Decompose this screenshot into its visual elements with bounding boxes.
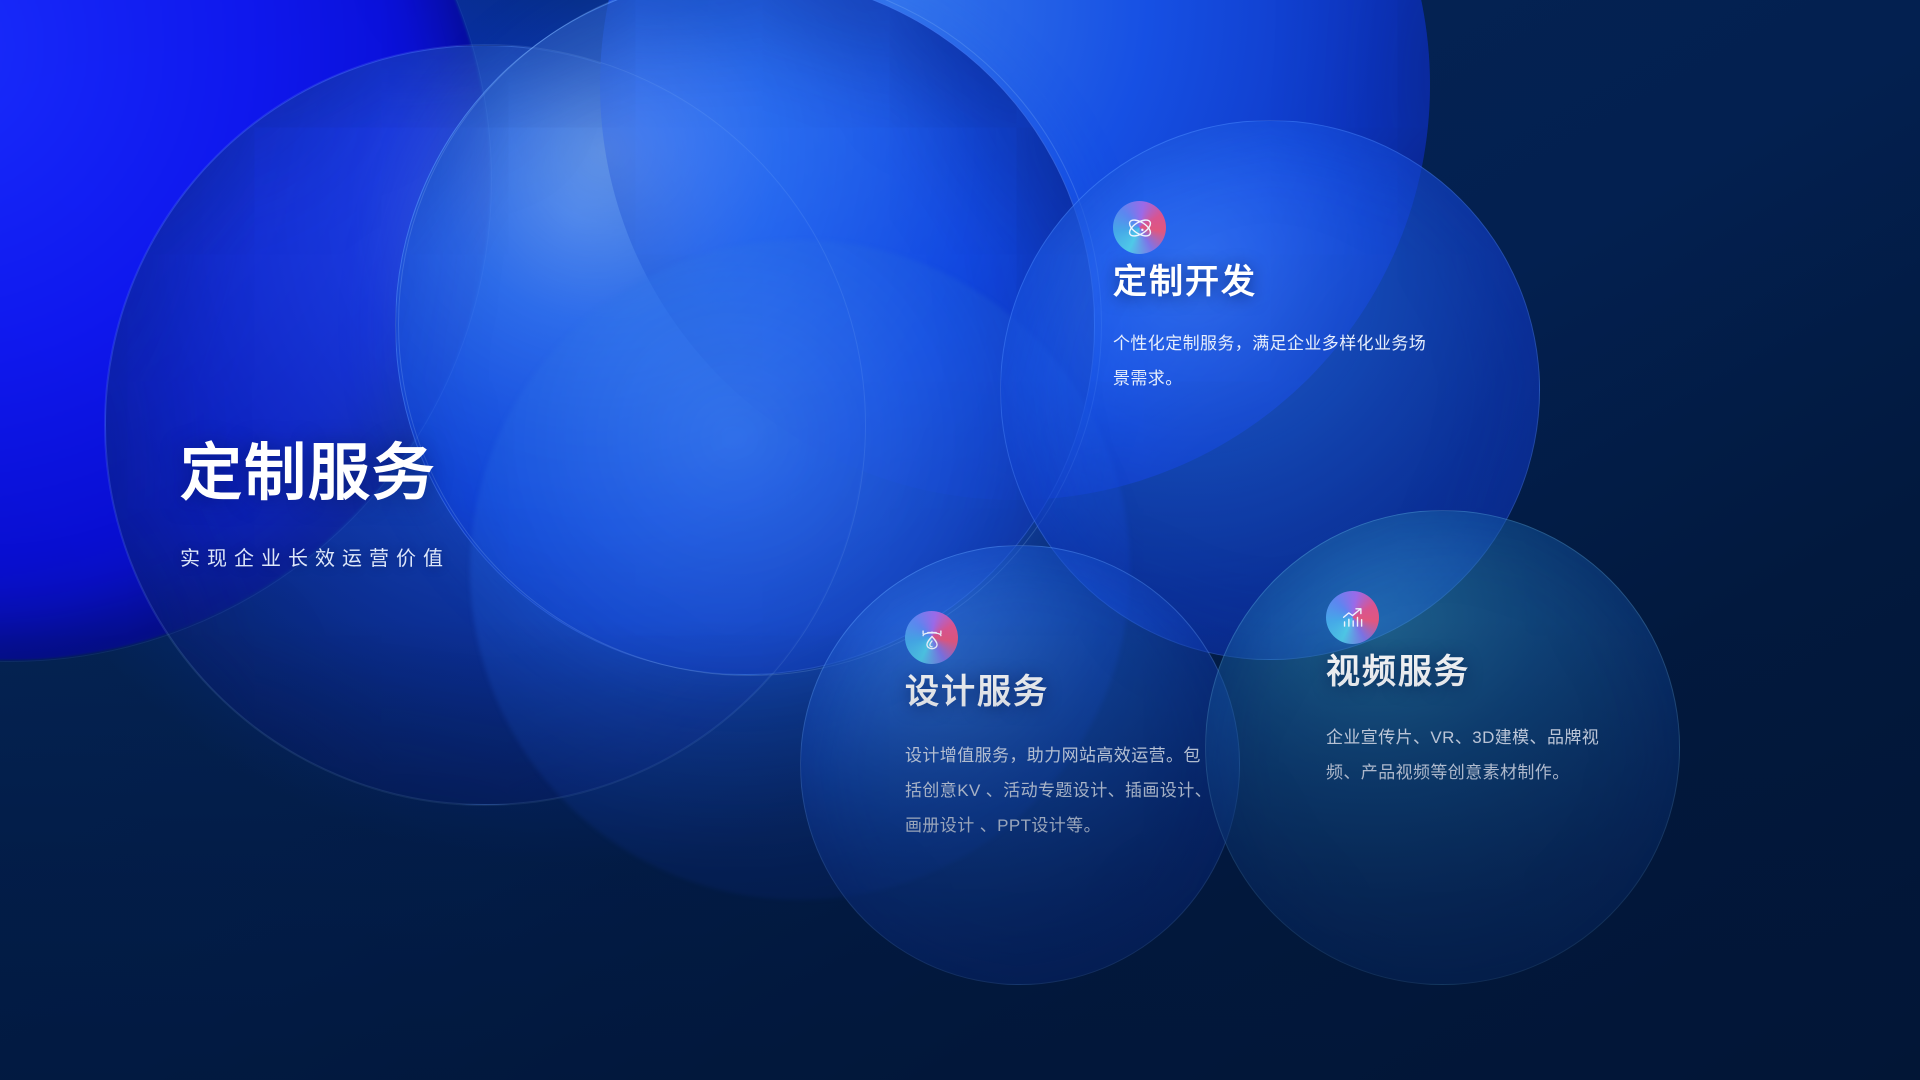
card-content: 设计服务 设计增值服务，助力网站高效运营。包括创意KV 、活动专题设计、插画设计… <box>905 611 1215 844</box>
background-orb-steel-blue <box>105 45 865 805</box>
card-description: 设计增值服务，助力网站高效运营。包括创意KV 、活动专题设计、插画设计、画册设计… <box>905 739 1215 844</box>
growth-chart-icon <box>1326 591 1379 644</box>
pen-nib-icon <box>905 611 958 664</box>
service-card-design-service[interactable]: 设计服务 设计增值服务，助力网站高效运营。包括创意KV 、活动专题设计、插画设计… <box>800 545 1240 985</box>
card-title: 定制开发 <box>1113 254 1443 303</box>
card-content: 视频服务 企业宣传片、VR、3D建模、品牌视频、产品视频等创意素材制作。 <box>1326 591 1626 791</box>
page-subtitle: 实现企业长效运营价值 <box>180 542 450 571</box>
card-description: 个性化定制服务，满足企业多样化业务场景需求。 <box>1113 327 1443 397</box>
background-ring-middle <box>104 44 866 806</box>
card-title: 视频服务 <box>1326 644 1626 693</box>
service-card-video-service[interactable]: 视频服务 企业宣传片、VR、3D建模、品牌视频、产品视频等创意素材制作。 <box>1205 510 1680 985</box>
card-content: 定制开发 个性化定制服务，满足企业多样化业务场景需求。 <box>1113 201 1443 397</box>
page-title: 定制服务 <box>180 440 450 508</box>
hero-section: 定制服务 实现企业长效运营价值 定制开发 个性化定制服务，满足企业多样化业务场景… <box>0 0 1920 1080</box>
atom-orbit-icon <box>1113 201 1166 254</box>
headline-block: 定制服务 实现企业长效运营价值 <box>180 440 450 571</box>
card-title: 设计服务 <box>905 664 1215 713</box>
card-description: 企业宣传片、VR、3D建模、品牌视频、产品视频等创意素材制作。 <box>1326 721 1626 791</box>
